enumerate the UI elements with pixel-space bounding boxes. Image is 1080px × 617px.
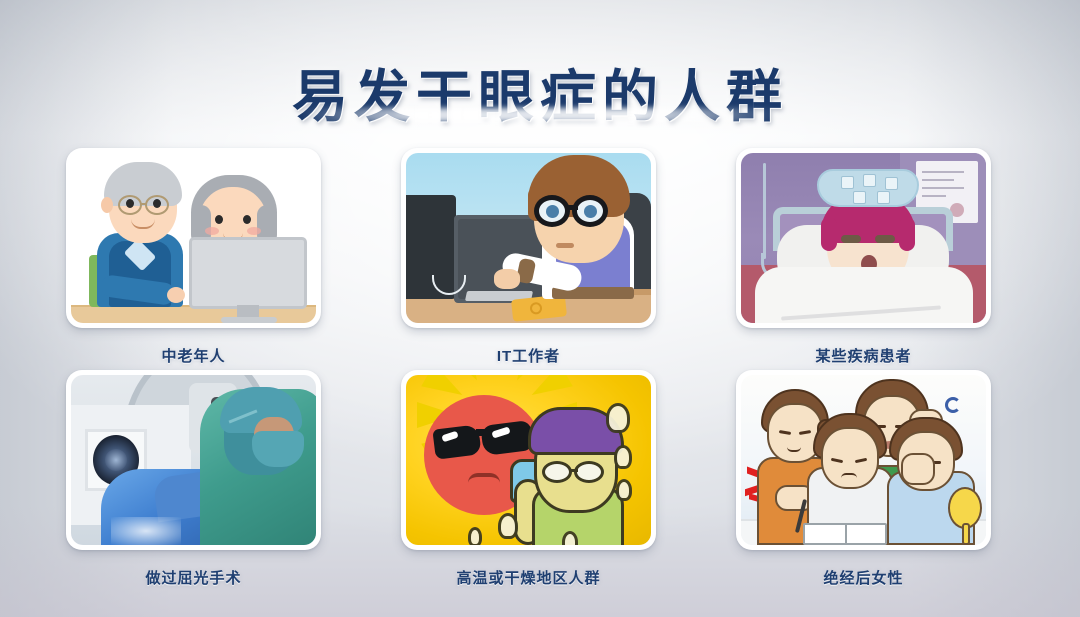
page-title: 易发干眼症的人群 [0, 52, 1080, 133]
card-cell-refractive-surgery: 做过屈光手术 [66, 370, 321, 588]
woman-c-mouth [841, 473, 857, 478]
eyeglasses-bridge [570, 469, 578, 472]
patient-eye-right [875, 235, 895, 243]
iv-pole-icon [763, 163, 766, 259]
steam-puff-icon [614, 445, 632, 469]
hand-mirror-handle [962, 523, 970, 545]
elderly-woman-blush-right [247, 227, 261, 235]
card-cell-hot-dry-region: 高温或干燥地区人群 [401, 370, 656, 588]
dizzy-swirl-icon [945, 397, 961, 413]
patient-hair-right [899, 217, 915, 251]
it-worker-mouth [556, 243, 574, 248]
it-worker-eye-left [546, 205, 559, 218]
sunglasses-icon-right [480, 420, 533, 456]
steam-puff-icon [468, 527, 482, 545]
illustration-hot-sun [406, 375, 651, 545]
card-grid: 中老年人 [66, 148, 1014, 592]
card-caption-hot-dry-region: 高温或干燥地区人群 [401, 567, 656, 588]
elderly-man-hand [167, 287, 185, 303]
monitor-stand-left [422, 277, 432, 293]
illustration-eye-surgery [71, 375, 316, 545]
card-disease-patient[interactable] [736, 148, 991, 328]
eyeglasses-icon-left [118, 195, 142, 215]
elderly-woman-blush-left [205, 227, 219, 235]
eyeglasses-icon-right [145, 195, 169, 215]
steam-puff-icon [606, 403, 630, 433]
sun-mouth [468, 473, 500, 483]
eyeglasses-bridge [141, 203, 147, 205]
illustration-elderly-couple [71, 153, 316, 323]
sunglasses-bridge [476, 429, 488, 436]
patient-hair-left [821, 217, 837, 251]
notebook-icon [803, 523, 887, 545]
card-cell-postmenopausal: 绝经后女性 [736, 370, 991, 588]
card-caption-elderly: 中老年人 [66, 345, 321, 366]
card-refractive-surgery[interactable] [66, 370, 321, 550]
ice-pack-icon [817, 169, 919, 207]
elderly-man-hair [104, 162, 182, 206]
eyeglasses-icon-left [542, 461, 572, 483]
infographic-stage: 易发干眼症的人群 [0, 0, 1080, 617]
steam-puff-icon [498, 513, 518, 539]
card-caption-postmenopausal: 绝经后女性 [736, 567, 991, 588]
steam-puff-icon [616, 479, 632, 501]
elderly-woman-eye-right [243, 215, 251, 224]
card-hot-dry-region[interactable] [401, 370, 656, 550]
illustration-sick-patient [741, 153, 986, 323]
eyeglasses-icon-right [574, 461, 604, 483]
card-it-worker[interactable] [401, 148, 656, 328]
card-postmenopausal[interactable] [736, 370, 991, 550]
light-glow [111, 517, 181, 545]
patient-eye-left [841, 235, 861, 243]
elderly-man-ear [101, 197, 113, 213]
card-cell-elderly: 中老年人 [66, 148, 321, 366]
card-caption-refractive-surgery: 做过屈光手术 [66, 567, 321, 588]
card-elderly[interactable] [66, 148, 321, 328]
surgical-mask-icon [252, 431, 304, 467]
it-worker-hand [494, 269, 520, 289]
monitor-icon [189, 237, 307, 309]
woman-c-head [821, 427, 879, 489]
it-worker-eye-right [584, 205, 597, 218]
illustration-it-worker [406, 153, 651, 323]
eyeglasses-bridge [568, 205, 578, 210]
card-cell-disease-patient: 某些疾病患者 [736, 148, 991, 366]
elderly-woman-eye-left [215, 215, 223, 224]
monitor-base [221, 317, 277, 323]
woman-d-hand-on-face [901, 453, 935, 485]
card-caption-it-worker: IT工作者 [401, 345, 656, 366]
illustration-menopausal-women [741, 375, 986, 545]
card-caption-disease-patient: 某些疾病患者 [736, 345, 991, 366]
card-cell-it-worker: IT工作者 [401, 148, 656, 366]
